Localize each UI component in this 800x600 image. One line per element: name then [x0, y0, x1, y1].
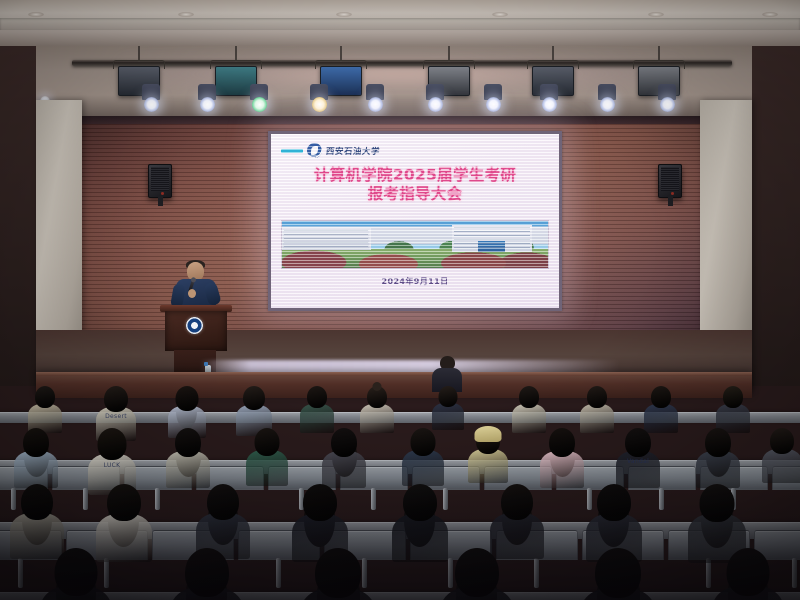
audience-member-head [723, 386, 743, 408]
audience-member-head [439, 386, 458, 407]
stage-spotlight-icon [308, 84, 330, 110]
stage-spotlight-icon [596, 84, 618, 110]
audience-member: Vandal [616, 428, 660, 487]
stage-spotlight-icon [482, 84, 504, 110]
stage-spotlight-icon [364, 84, 386, 110]
stage-spotlight-icon [248, 84, 270, 110]
audience-member [14, 428, 58, 487]
audience-member-head [21, 484, 53, 520]
seat-leg [792, 558, 797, 588]
speaker-bracket-left [158, 196, 163, 206]
seat-leg [18, 558, 23, 588]
wall-speaker-icon-left [148, 164, 172, 198]
audience-member-body [432, 403, 464, 430]
right-dark-wall [752, 46, 800, 386]
audience-member [468, 428, 508, 482]
audience-member [10, 484, 64, 557]
seat-leg [534, 558, 539, 588]
slide-title-line-2: 报考指导大会 [271, 185, 559, 204]
audience-member [170, 548, 244, 600]
audience-member [166, 428, 210, 487]
audience-member [28, 386, 62, 432]
campus-photo [281, 220, 549, 269]
seat-leg [155, 488, 160, 510]
audience-member [432, 386, 464, 429]
audience-member-head [175, 428, 201, 457]
audience-member [762, 428, 800, 482]
campus-building-right [452, 225, 532, 252]
audience-member-head [455, 548, 499, 597]
ceiling-downlight-icon [492, 12, 508, 17]
audience-member-head [549, 428, 575, 457]
university-crest-icon [186, 317, 203, 334]
audience-member [300, 386, 334, 432]
audience-member [402, 428, 444, 485]
seat-leg [659, 488, 664, 510]
audience-member-body [580, 404, 614, 433]
university-seal-icon [307, 143, 322, 158]
audience-member-head [595, 548, 641, 598]
audience-member [196, 484, 250, 557]
audience-member [580, 386, 614, 432]
ceiling-downlight-icon [762, 12, 778, 17]
audience-member-head [587, 386, 607, 408]
baseball-cap-icon [475, 426, 502, 442]
audience-member-head [243, 386, 265, 410]
audience-member-head [770, 428, 794, 454]
audience-member-head [255, 428, 280, 456]
audience-member-head [23, 428, 49, 457]
audience-member [580, 548, 656, 600]
audience-member [540, 428, 584, 487]
audience-member [300, 548, 376, 600]
university-name: 西安石油大学 [325, 145, 380, 157]
stage-spotlight-icon [538, 84, 560, 110]
shirt-print-text: Vandal [627, 458, 649, 465]
stage-spotlight-icon [656, 84, 678, 110]
audience-area: DesertLUCKVandal [0, 380, 800, 600]
projection-screen: 西安石油大学 计算机学院2025届学生考研 报考指导大会 2024年9月11日 [268, 131, 562, 311]
campus-building-left [282, 228, 371, 250]
ceiling-downlight-icon [336, 12, 352, 17]
audience-member-head [307, 386, 327, 408]
audience-member [716, 386, 750, 432]
audience-member-head [625, 428, 651, 457]
audience-member-head [176, 386, 199, 411]
audience-member-head [104, 386, 128, 412]
ceiling-strip [0, 18, 800, 30]
presenter-hand [188, 289, 196, 298]
speaker-bracket-right [668, 196, 673, 206]
seat-leg [276, 558, 281, 588]
audience-member-head [651, 386, 671, 408]
stage-spotlight-icon [196, 84, 218, 110]
wall-speaker-icon-right [658, 164, 682, 198]
audience-member [322, 428, 366, 487]
slide-header: 西安石油大学 [281, 143, 380, 158]
slide-title: 计算机学院2025届学生考研 报考指导大会 [271, 166, 559, 204]
audience-member-body [468, 449, 508, 483]
building-entrance [478, 241, 505, 252]
slide-title-line-1: 计算机学院2025届学生考研 [271, 166, 559, 185]
accent-bar [281, 149, 303, 153]
audience-member-head [35, 386, 55, 408]
presentation-slide: 西安石油大学 计算机学院2025届学生考研 报考指导大会 2024年9月11日 [271, 134, 559, 308]
audience-member-head [55, 548, 98, 596]
stage-spotlight-icon [424, 84, 446, 110]
audience-member [696, 428, 740, 487]
audience-member [440, 548, 514, 600]
audience-member-head [501, 484, 533, 520]
audience-member-head [727, 548, 770, 596]
audience-member [512, 386, 546, 432]
ceiling-downlight-icon [178, 12, 194, 17]
audience-member-head [98, 428, 127, 460]
stage-spotlight-icon [140, 84, 162, 110]
shirt-print-text: LUCK [104, 462, 121, 469]
audience-member-head [303, 484, 337, 521]
audience-member-head [705, 428, 731, 457]
audience-member-head [185, 548, 229, 597]
podium-front-panel [165, 311, 227, 351]
audience-member-head [107, 484, 141, 521]
front-desk-edge [36, 372, 752, 376]
seat-leg [371, 488, 376, 510]
audience-member [360, 386, 394, 432]
audience-member-head [519, 386, 539, 408]
audience-member-head [207, 484, 239, 520]
seat-row [0, 592, 800, 600]
audience-member-head [411, 428, 436, 456]
shirt-print-text: Desert [105, 413, 127, 420]
left-dark-wall [0, 46, 36, 386]
audience-member-body [762, 449, 800, 483]
hair-bun [373, 382, 382, 391]
auditorium-photo: 西安石油大学 计算机学院2025届学生考研 报考指导大会 2024年9月11日 [0, 0, 800, 600]
slide-date: 2024年9月11日 [271, 276, 559, 287]
audience-member-head [700, 484, 735, 522]
audience-member-head [597, 484, 631, 521]
audience-member [246, 428, 288, 485]
ceiling-downlight-icon [28, 12, 44, 17]
ceiling-downlight-icon [648, 12, 664, 17]
audience-member-head [403, 484, 437, 521]
audience-member-head [331, 428, 357, 457]
audience-member [40, 548, 112, 600]
audience-member [644, 386, 678, 432]
audience-member [712, 548, 784, 600]
audience-member [490, 484, 544, 557]
audience-member-head [315, 548, 361, 598]
